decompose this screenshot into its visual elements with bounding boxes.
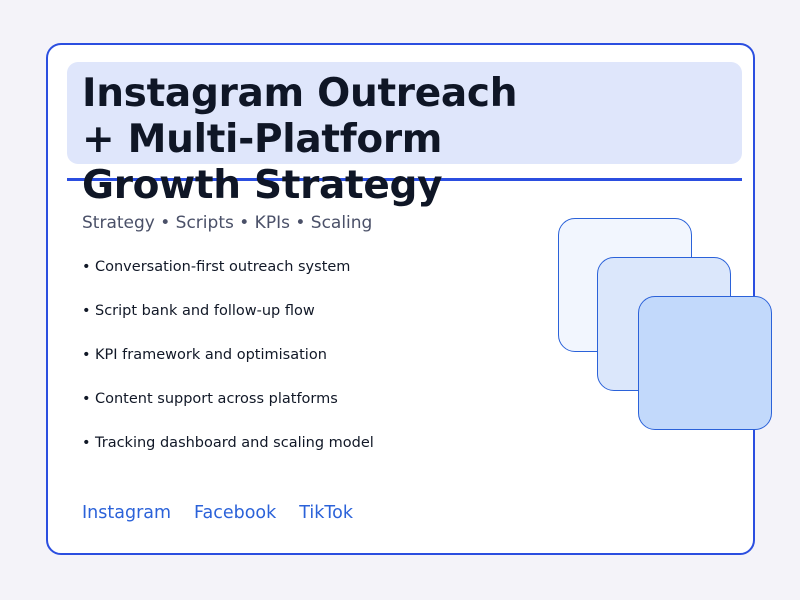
list-item: • KPI framework and optimisation [82,345,542,389]
stack-card-front [638,296,772,430]
platform-links: Instagram Facebook TikTok [82,503,353,523]
title-divider [67,178,742,181]
list-item: • Content support across platforms [82,389,542,433]
title-line-3: Growth Strategy [82,163,782,209]
stack-card-middle [597,257,731,391]
bullet-dot-icon: • [82,257,95,277]
slide-card: Instagram Outreach + Multi-Platform Grow… [46,43,755,555]
subtitle: Strategy • Scripts • KPIs • Scaling [82,213,372,233]
list-item-label: Script bank and follow-up flow [95,301,542,321]
bullet-dot-icon: • [82,345,95,365]
platform-link-facebook[interactable]: Facebook [194,503,276,523]
bullet-list: • Conversation-first outreach system • S… [82,257,542,477]
bullet-dot-icon: • [82,389,95,409]
list-item-label: KPI framework and optimisation [95,345,542,365]
list-item: • Conversation-first outreach system [82,257,542,301]
list-item: • Tracking dashboard and scaling model [82,433,542,477]
list-item-label: Conversation-first outreach system [95,257,542,277]
bullet-dot-icon: • [82,433,95,453]
platform-link-tiktok[interactable]: TikTok [299,503,353,523]
list-item-label: Tracking dashboard and scaling model [95,433,542,453]
bullet-dot-icon: • [82,301,95,321]
list-item: • Script bank and follow-up flow [82,301,542,345]
stack-card-back [558,218,692,352]
platform-link-instagram[interactable]: Instagram [82,503,171,523]
list-item-label: Content support across platforms [95,389,542,409]
title-header-band [67,62,742,164]
